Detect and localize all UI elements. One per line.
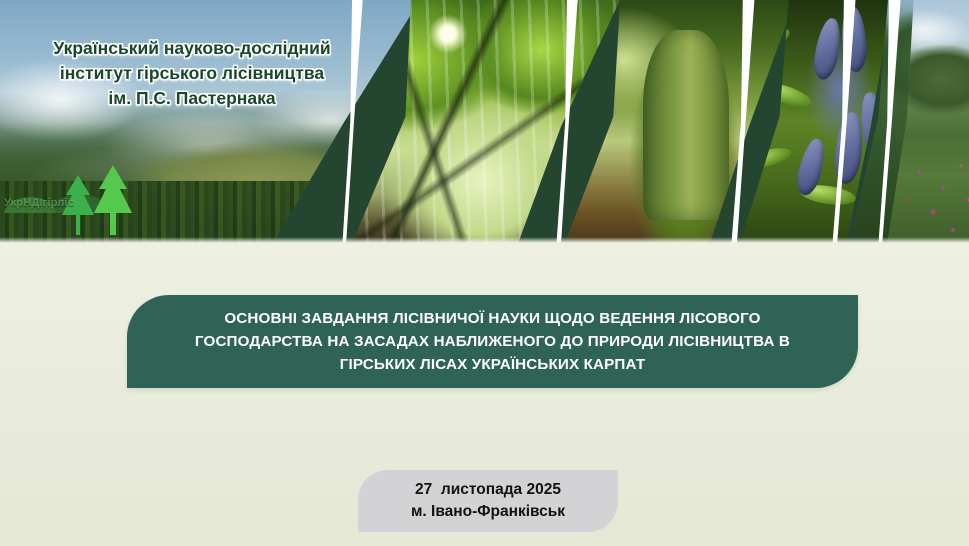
- header-photo-strip: УкрНДІгірліс Український науково-дослідн…: [0, 0, 969, 243]
- spruce-cone-icon: [840, 5, 869, 73]
- institute-name-line-3: ім. П.С. Пастернака: [12, 86, 372, 111]
- spruce-cone-icon: [832, 111, 865, 185]
- tree-trunk-shape: [643, 30, 729, 220]
- title-line-2: ГОСПОДАРСТВА НА ЗАСАДАХ НАБЛИЖЕНОГО ДО П…: [195, 330, 790, 353]
- institute-name-line-2: інститут гірського лісівництва: [12, 61, 372, 86]
- institute-name: Український науково-дослідний інститут г…: [12, 36, 372, 111]
- institute-name-line-1: Український науково-дослідний: [12, 36, 372, 61]
- title-line-1: ОСНОВНІ ЗАВДАННЯ ЛІСІВНИЧОЇ НАУКИ ЩОДО В…: [195, 307, 790, 330]
- presentation-date: 27 листопада 2025: [415, 479, 561, 501]
- presentation-title-banner: ОСНОВНІ ЗАВДАННЯ ЛІСІВНИЧОЇ НАУКИ ЩОДО В…: [127, 295, 858, 388]
- presentation-title: ОСНОВНІ ЗАВДАННЯ ЛІСІВНИЧОЇ НАУКИ ЩОДО В…: [169, 307, 816, 376]
- spruce-cone-icon: [811, 16, 844, 81]
- institute-logo: УкрНДІгірліс: [2, 159, 152, 237]
- spruce-needle-icon: [741, 144, 793, 172]
- logo-wordmark: УкрНДІгірліс: [4, 197, 74, 209]
- strip-bottom-fade: [0, 237, 969, 243]
- spruce-needle-icon: [757, 78, 814, 111]
- title-line-3: ГІРСЬКИХ ЛІСАХ УКРАЇНСЬКИХ КАРПАТ: [195, 353, 790, 376]
- date-location-box: 27 листопада 2025 м. Івано-Франківськ: [358, 470, 618, 532]
- fir-tree-icon: [92, 163, 134, 235]
- presentation-location: м. Івано-Франківськ: [411, 501, 565, 523]
